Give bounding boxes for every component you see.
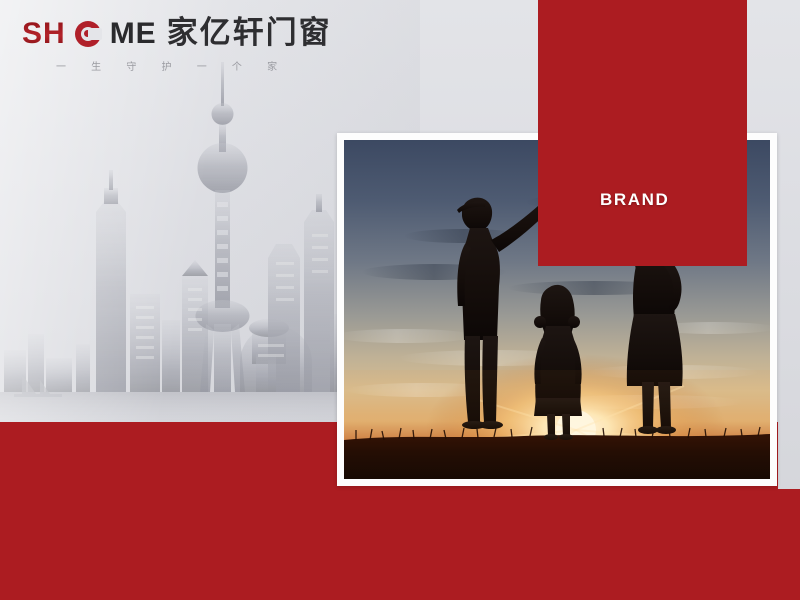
ring-o-icon [75, 21, 101, 47]
red-block-right [777, 489, 800, 600]
logo-latin-suffix: ME [110, 19, 157, 49]
logo-chinese-name: 家亿轩门窗 [167, 18, 332, 49]
brand-logo: SH ME 家亿轩门窗 一 生 守 护 一 个 家 [22, 18, 332, 73]
logo-latin-prefix: SH [22, 19, 66, 49]
brand-label: BRAND [600, 190, 669, 210]
logo-tagline: 一 生 守 护 一 个 家 [56, 58, 288, 73]
logo-wordmark-row: SH ME 家亿轩门窗 [22, 18, 332, 49]
red-block-top-overlay [538, 0, 747, 266]
skyline-watermark [0, 62, 345, 422]
poster-canvas: SH ME 家亿轩门窗 一 生 守 护 一 个 家 [0, 0, 800, 600]
